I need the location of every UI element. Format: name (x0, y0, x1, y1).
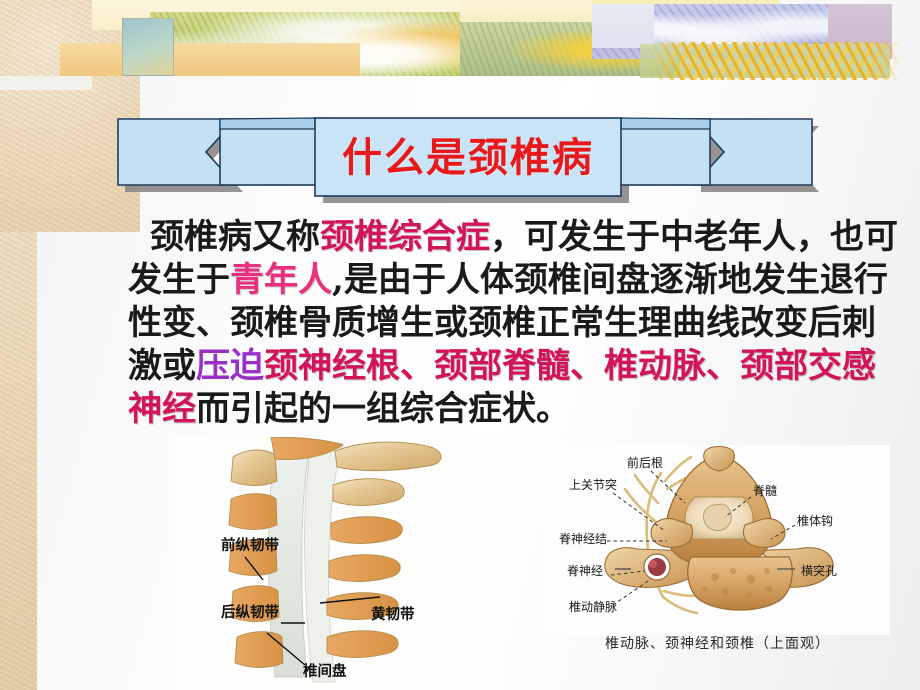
figure-caption: 椎动脉、颈神经和颈椎（上面观） (545, 633, 890, 653)
label-transverse-foramen: 横突孔 (801, 563, 837, 578)
decor-band-cream-right (460, 0, 592, 22)
label-spinal-cord: 脊髓 (753, 484, 777, 498)
presentation-slide: 什么是颈椎病 颈椎病又称颈椎综合症，可发生于中老年人，也可发生于青年人,是由于人… (0, 0, 920, 690)
decor-wheat-sprigs (650, 42, 900, 80)
decor-band-orange (60, 43, 360, 76)
vertebra-superior-illustration: 前后根 上关节突 脊髓 椎体钩 脊神经结 脊神经 横突孔 椎动静脉 (545, 445, 890, 635)
label-anterior-longitudinal-ligament: 前纵韧带 (221, 536, 279, 554)
text-highlight-cervical-syndrome: 颈椎综合症 (320, 217, 490, 257)
decor-band-blue-light (592, 4, 654, 48)
label-posterior-longitudinal-ligament: 后纵韧带 (221, 603, 279, 621)
decor-band-gray (0, 76, 92, 90)
spine-lateral-illustration: 前纵韧带 后纵韧带 黄韧带 椎间盘 (175, 437, 505, 690)
figure-cervical-vertebra-superior: 前后根 上关节突 脊髓 椎体钩 脊神经结 脊神经 横突孔 椎动静脉 椎动脉、颈神… (545, 445, 890, 690)
figure-cervical-spine-lateral: 前纵韧带 后纵韧带 黄韧带 椎间盘 (175, 437, 505, 690)
body-paragraph: 颈椎病又称颈椎综合症，可发生于中老年人，也可发生于青年人,是由于人体颈椎间盘逐渐… (128, 216, 898, 431)
label-uncinate-process: 椎体钩 (797, 513, 833, 528)
label-superior-articular-process: 上关节突 (569, 477, 617, 492)
slide-title: 什么是颈椎病 (318, 119, 618, 189)
text-segment-8: 而引起的一组综合症状。 (196, 389, 570, 429)
label-vertebral-artery-vein: 椎动静脉 (569, 599, 617, 614)
text-segment-1: 颈椎病又称 (150, 217, 320, 257)
text-highlight-compression: 压迫 (196, 346, 264, 386)
label-spinal-ganglion: 脊神经结 (559, 532, 607, 546)
label-ligamentum-flavum: 黄韧带 (371, 605, 415, 623)
decor-band-teal-square (122, 18, 174, 76)
label-anterior-posterior-roots: 前后根 (627, 455, 663, 470)
title-ribbon-banner: 什么是颈椎病 (110, 103, 820, 203)
label-intervertebral-disc: 椎间盘 (303, 662, 347, 680)
text-highlight-youth: 青年人 (230, 260, 332, 300)
label-spinal-nerve: 脊神经 (567, 564, 603, 578)
